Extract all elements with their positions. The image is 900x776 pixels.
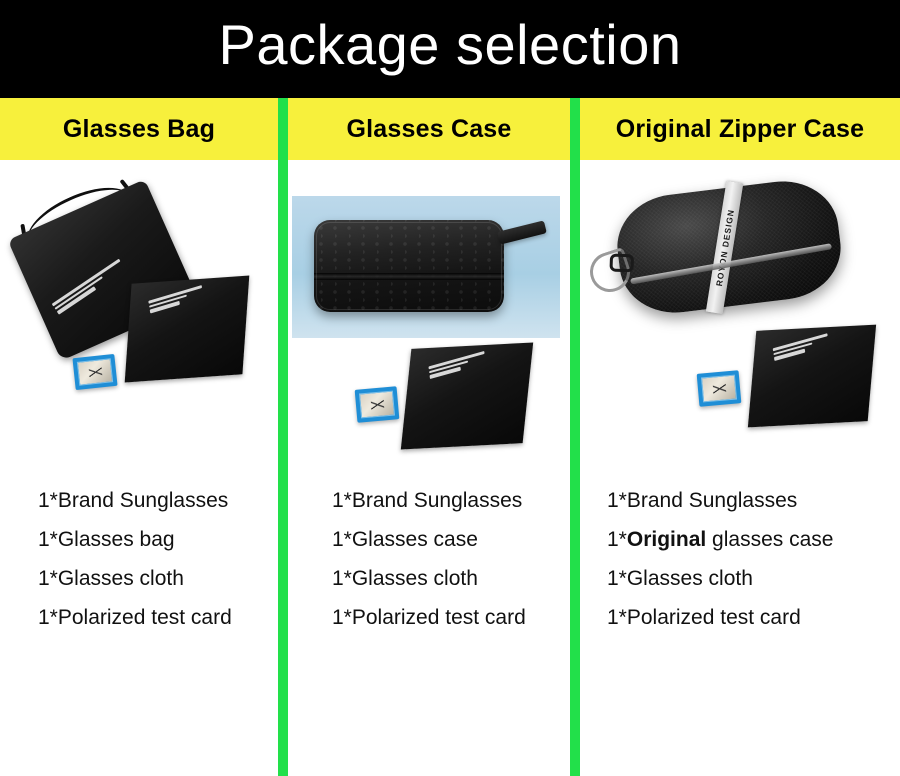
column-header-original-zipper-case: Original Zipper Case [580, 98, 900, 160]
polarized-test-card-icon [72, 354, 117, 390]
list-item: 1*Glasses bag [38, 529, 278, 550]
package-selection-infographic: Package selection Glasses Bag Glasses Ca… [0, 0, 900, 776]
list-item: 1*Brand Sunglasses [38, 490, 278, 511]
cloth-brand-logo-icon [148, 285, 204, 315]
spec-list-zipper-case: 1*Brand Sunglasses 1*Original glasses ca… [580, 490, 900, 646]
case-pull-tab-icon [497, 220, 547, 244]
column-glasses-case: 1*Brand Sunglasses 1*Glasses case 1*Glas… [288, 160, 570, 776]
column-divider-right [570, 98, 580, 776]
polarized-test-card-icon [697, 370, 742, 407]
column-original-zipper-case: ROYON DESIGN 1*Brand Sunglasses 1*Origin… [580, 160, 900, 776]
product-photo-zipper-case: ROYON DESIGN [580, 160, 900, 460]
column-header-glasses-bag: Glasses Bag [0, 98, 278, 160]
column-glasses-bag: 1*Brand Sunglasses 1*Glasses bag 1*Glass… [0, 160, 278, 776]
spec-list-glasses-bag: 1*Brand Sunglasses 1*Glasses bag 1*Glass… [0, 490, 278, 646]
column-divider-left [278, 98, 288, 776]
list-item: 1*Polarized test card [38, 607, 278, 628]
column-header-glasses-case: Glasses Case [288, 98, 570, 160]
hard-shell-case-icon [314, 220, 504, 312]
hard-case-photo-frame [292, 196, 560, 338]
polarized-test-card-icon [355, 386, 400, 423]
spec-list-glasses-case: 1*Brand Sunglasses 1*Glasses case 1*Glas… [288, 490, 570, 646]
list-item: 1*Glasses cloth [607, 568, 900, 589]
list-item: 1*Glasses cloth [38, 568, 278, 589]
case-rim [316, 222, 502, 310]
list-item: 1*Polarized test card [332, 607, 570, 628]
page-title: Package selection [0, 0, 900, 98]
list-item: 1*Glasses case [332, 529, 570, 550]
product-photo-glasses-case [288, 160, 570, 460]
product-photo-glasses-bag [0, 160, 278, 460]
item-suffix: glasses case [706, 528, 833, 551]
list-item-original-case: 1*Original glasses case [607, 529, 900, 550]
item-emphasis: Original [627, 528, 706, 551]
list-item: 1*Brand Sunglasses [332, 490, 570, 511]
cleaning-cloth-icon [401, 342, 533, 449]
list-item: 1*Polarized test card [607, 607, 900, 628]
cleaning-cloth-icon [748, 325, 876, 428]
cleaning-cloth-icon [125, 276, 250, 383]
oval-zipper-case-icon: ROYON DESIGN [612, 175, 847, 319]
list-item: 1*Glasses cloth [332, 568, 570, 589]
cloth-brand-logo-icon [428, 351, 486, 381]
item-prefix: 1* [607, 528, 627, 551]
list-item: 1*Brand Sunglasses [607, 490, 900, 511]
cloth-brand-logo-icon [773, 333, 830, 363]
